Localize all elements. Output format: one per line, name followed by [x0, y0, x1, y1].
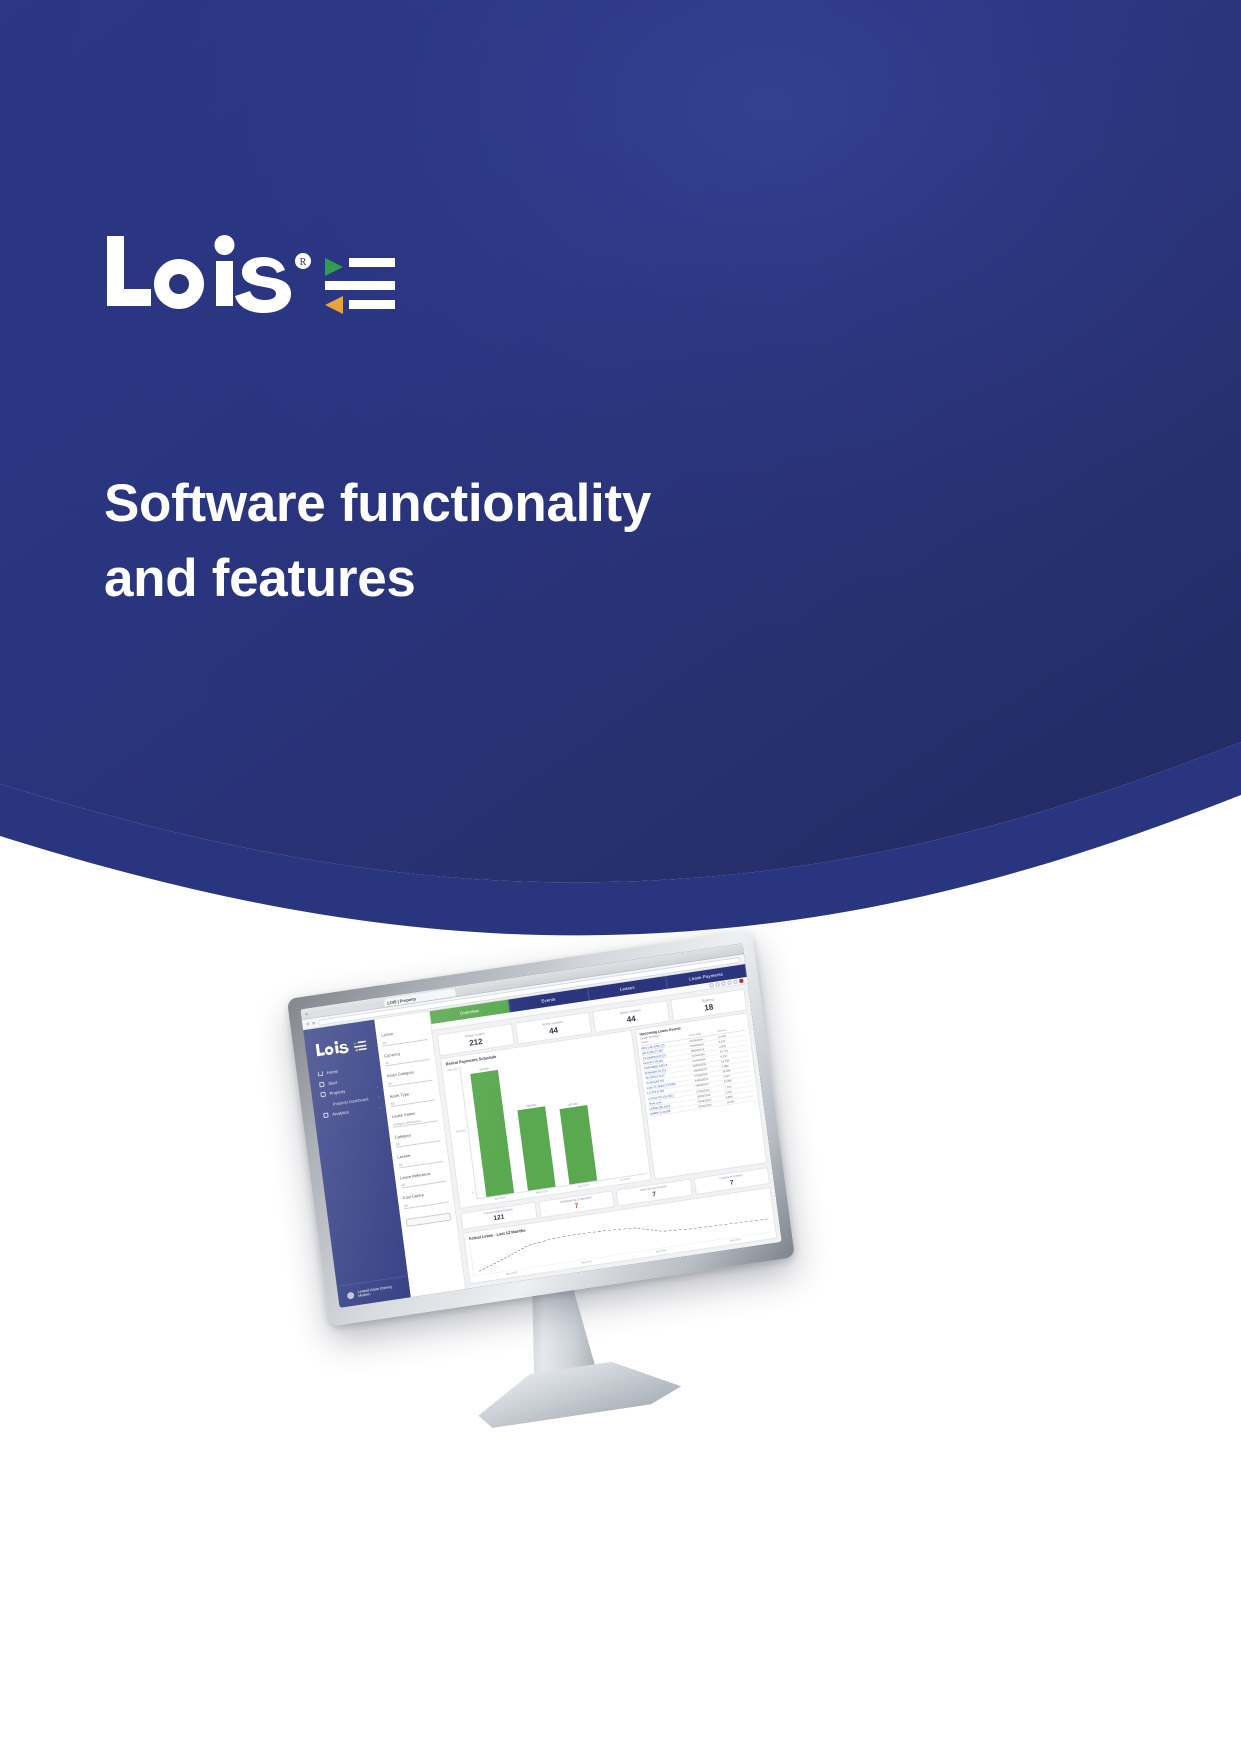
dashboard-main: Overview Events Leases Lease Payments — [430, 964, 782, 1289]
page-title: Software functionality and features — [104, 466, 744, 617]
brochure-cover-page: R Software functionality and features — [0, 0, 1241, 1754]
bar[interactable] — [471, 1070, 515, 1197]
y-tick: 0 — [463, 1191, 474, 1197]
window-controls[interactable] — [305, 1012, 309, 1018]
cloud-icon — [319, 1081, 325, 1087]
chevron-right-icon: › — [379, 1105, 381, 1109]
svg-text:R: R — [300, 257, 307, 268]
x-tick: Jan 2024 — [655, 1249, 666, 1254]
sidebar-item-label: Property — [329, 1085, 373, 1096]
back-icon[interactable] — [306, 1022, 309, 1025]
close-icon[interactable] — [305, 1012, 308, 1015]
refresh-icon[interactable] — [721, 981, 725, 986]
chart-icon — [323, 1112, 329, 1118]
bar[interactable] — [518, 1106, 556, 1191]
white-footer-area — [0, 1574, 1241, 1754]
filter-icon[interactable] — [709, 983, 713, 988]
filter-lessee[interactable]: Lessee All — [397, 1148, 443, 1168]
browser-window: LOIS | Property — [300, 943, 781, 1308]
x-tick: Sep 2023 — [581, 1260, 592, 1265]
pdf-icon[interactable] — [739, 979, 743, 984]
avatar — [347, 1291, 355, 1299]
reset-filters-button[interactable] — [406, 1212, 452, 1227]
user-role: Modern — [358, 1292, 371, 1298]
y-tick: 200,000 — [454, 1129, 465, 1135]
sidebar-item-label: Analytics — [332, 1105, 376, 1116]
home-icon — [318, 1071, 324, 1077]
title-line-2: and features — [104, 541, 744, 616]
title-line-1: Software functionality — [104, 466, 744, 541]
grid-icon[interactable] — [733, 979, 737, 984]
monitor-bezel: LOIS | Property — [287, 930, 795, 1327]
chevron-right-icon: › — [377, 1084, 379, 1088]
fullscreen-icon[interactable] — [727, 980, 731, 985]
sidebar-item-label: Property Dashboard — [333, 1095, 375, 1106]
lois-logo: R — [103, 228, 403, 328]
sidebar-user[interactable]: Leased Asset (Demo) Modern — [337, 1275, 411, 1307]
filter-lessor[interactable]: Lessor All — [381, 1026, 427, 1046]
filter-asset-type[interactable]: Asset Type All — [389, 1087, 435, 1107]
filter-cost-centre[interactable]: Cost Centre All — [402, 1189, 448, 1209]
export-icon[interactable] — [715, 982, 719, 987]
chevron-right-icon: › — [378, 1095, 380, 1099]
rental-payments-chart: Rental Payments Schedule 400,000 200,000… — [440, 1029, 652, 1209]
forward-icon[interactable] — [312, 1021, 315, 1024]
building-icon — [320, 1092, 326, 1098]
filter-lease-reference[interactable]: Lease Reference All — [400, 1168, 446, 1188]
sidebar-item-label: Start — [328, 1074, 373, 1086]
filter-asset-category[interactable]: Asset Category All — [386, 1067, 432, 1087]
chart-plot-area: 412,000 268,000 — [459, 1041, 647, 1200]
y-tick: 400,000 — [446, 1066, 457, 1072]
monitor-screen: LOIS | Property — [300, 943, 781, 1308]
product-screenshot-monitor: LOIS | Property — [300, 965, 820, 1465]
upcoming-lease-events-card: Upcoming Lease Events Lease Reviews Leas… — [635, 1012, 767, 1180]
sidebar-nav: Home Start — [309, 1062, 386, 1119]
filter-category[interactable]: Category All — [394, 1128, 440, 1148]
x-tick: May 2023 — [506, 1271, 518, 1276]
x-tick: Mar 2024 — [730, 1238, 741, 1243]
filter-lease-status[interactable]: Lease Status Multiple selections — [392, 1107, 438, 1127]
filter-currency[interactable]: Currency All — [384, 1046, 430, 1066]
bar[interactable] — [560, 1105, 598, 1185]
